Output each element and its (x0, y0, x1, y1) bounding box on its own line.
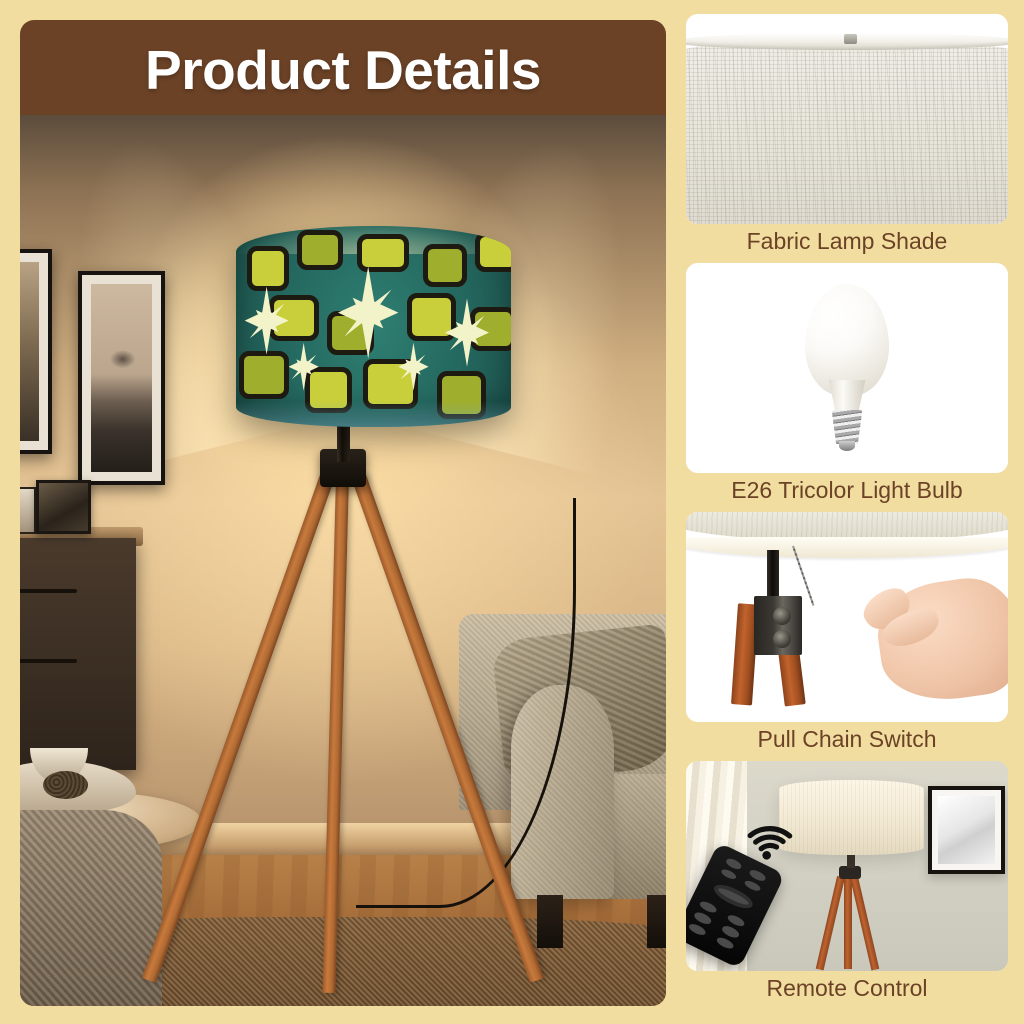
detail-card (686, 263, 1008, 473)
remote-button (716, 936, 736, 951)
pull-chain-switch-image (686, 512, 1008, 722)
shade-starburst (398, 343, 428, 391)
dresser (20, 538, 136, 770)
detail-panel-remote-control: Remote Control (686, 761, 1008, 1005)
fabric-lamp-shade-image (686, 14, 1008, 224)
art-image (20, 262, 39, 441)
shade-pattern-block (297, 230, 344, 270)
remote-button (688, 923, 708, 938)
remote-control-image (686, 761, 1008, 971)
shade-starburst (245, 287, 289, 355)
remote-button (744, 880, 762, 894)
shade-pattern-block (423, 244, 467, 286)
book-on-dresser (20, 487, 36, 533)
sofa-leg (647, 895, 666, 948)
sofa-leg (537, 895, 563, 948)
shade-pattern-block (247, 246, 288, 290)
shade-bottom-edge (236, 401, 511, 427)
drawer-handle (20, 659, 77, 663)
hub-screw (773, 607, 791, 625)
detail-label-remote-control: Remote Control (686, 971, 1008, 1005)
remote-button (720, 868, 738, 882)
shade-inner-edge (686, 537, 1008, 558)
shade-pattern-block (239, 351, 288, 399)
bulb-graphic (805, 284, 889, 452)
page-title: Product Details (145, 38, 541, 102)
art-image (938, 796, 995, 864)
shade-starburst (289, 343, 319, 391)
detail-panel-pull-chain-switch: Pull Chain Switch (686, 512, 1008, 756)
patterned-lamp-shade (236, 226, 511, 426)
art-image (91, 284, 152, 472)
detail-card (686, 512, 1008, 722)
tripod-leg-center (844, 877, 851, 969)
detail-label-fabric-lamp-shade: Fabric Lamp Shade (686, 224, 1008, 258)
shade-metal-clip (844, 34, 857, 45)
hub-screw (773, 630, 791, 648)
detail-card (686, 14, 1008, 224)
light-bulb-image (686, 263, 1008, 473)
detail-label-light-bulb: E26 Tricolor Light Bulb (686, 473, 1008, 507)
title-banner: Product Details (20, 20, 666, 120)
shade-pattern-block (475, 232, 511, 272)
linen-shade-body (686, 39, 1008, 224)
shade-starburst (338, 266, 398, 358)
detail-label-pull-chain-switch: Pull Chain Switch (686, 722, 1008, 756)
art-mat (82, 275, 161, 481)
framed-wall-art (928, 786, 1005, 874)
bulb-screw-base (831, 410, 863, 444)
bulb-globe (805, 284, 889, 396)
detail-card (686, 761, 1008, 971)
drawer-handle (20, 589, 77, 593)
bulb-contact-tip (839, 441, 855, 451)
framed-wall-art-left (20, 249, 52, 454)
art-mat (20, 253, 48, 450)
detail-panel-fabric-lamp-shade: Fabric Lamp Shade (686, 14, 1008, 258)
left-column: Product Details (20, 20, 666, 1006)
lamp-neck (847, 853, 855, 868)
picture-frame-on-dresser (36, 480, 91, 533)
detail-panels-column: Fabric Lamp Shade E26 Tricolor Light Bul… (686, 14, 1008, 1014)
decor-pinecone (43, 771, 88, 800)
hand (872, 572, 1008, 708)
shade-starburst (445, 299, 489, 367)
detail-panel-light-bulb: E26 Tricolor Light Bulb (686, 263, 1008, 507)
throw-blanket (20, 810, 162, 1006)
hero-product-image (20, 115, 666, 1006)
framed-wall-art-main (78, 271, 165, 485)
